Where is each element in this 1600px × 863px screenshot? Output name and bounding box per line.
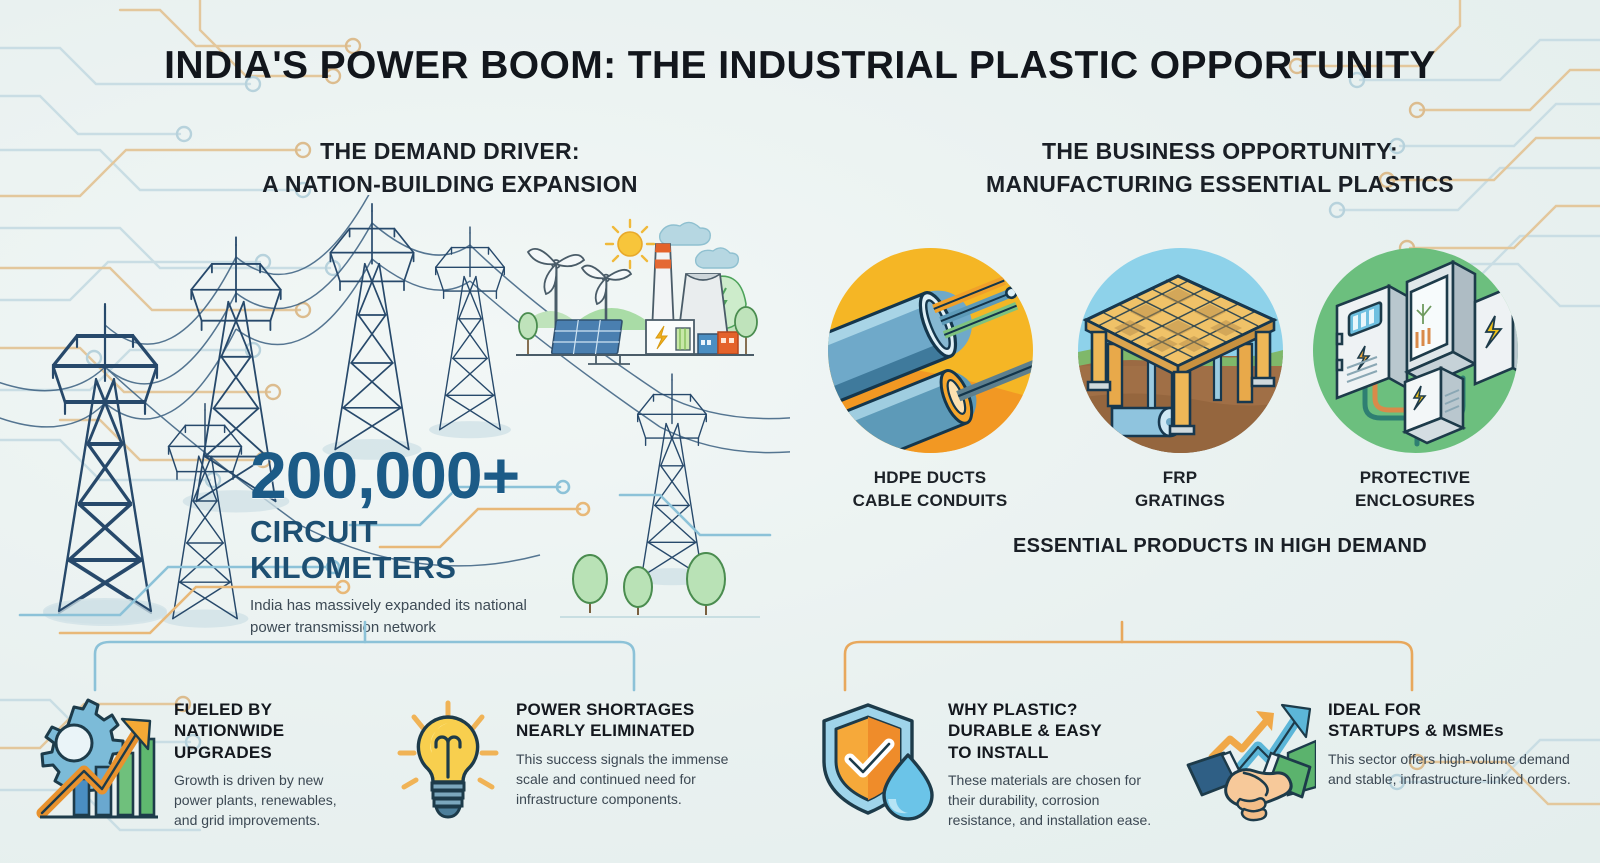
section-header-business-opportunity: THE BUSINESS OPPORTUNITY: MANUFACTURING … xyxy=(860,135,1580,200)
card-description: Growth is driven by new power plants, re… xyxy=(174,770,360,830)
card-title-line: TO INSTALL xyxy=(948,742,1168,763)
hdpe-duct-icon xyxy=(828,248,1033,453)
card-title-line: NATIONWIDE xyxy=(174,720,360,741)
card-title-line: STARTUPS & MSMEs xyxy=(1328,720,1582,741)
card-description: This success signals the immense scale a… xyxy=(516,749,742,809)
page-title: INDIA'S POWER BOOM: THE INDUSTRIAL PLAST… xyxy=(0,44,1600,88)
frp-grating-icon xyxy=(1078,248,1283,453)
product-card-protective-enclosures[interactable]: PROTECTIVE ENCLOSURES xyxy=(1310,248,1520,513)
gear-growth-chart-icon xyxy=(30,695,162,832)
infographic-root: INDIA'S POWER BOOM: THE INDUSTRIAL PLAST… xyxy=(0,0,1600,863)
card-description: These materials are chosen for their dur… xyxy=(948,770,1168,830)
products-subtitle: ESSENTIAL PRODUCTS IN HIGH DEMAND xyxy=(860,535,1580,558)
card-title: POWER SHORTAGES NEARLY ELIMINATED xyxy=(516,699,742,742)
handshake-growth-icon xyxy=(1182,695,1316,832)
product-label: PROTECTIVE ENCLOSURES xyxy=(1310,467,1520,513)
section-header-demand-driver: THE DEMAND DRIVER: A NATION-BUILDING EXP… xyxy=(130,135,770,200)
card-title-line: IDEAL FOR xyxy=(1328,699,1582,720)
card-description: This sector offers high-volume demand an… xyxy=(1328,749,1582,789)
lightbulb-icon xyxy=(392,695,504,832)
product-label-line1: HDPE DUCTS xyxy=(825,467,1035,490)
statistic-unit: CIRCUIT KILOMETERS xyxy=(250,514,580,586)
info-card-fueled-by-upgrades[interactable]: FUELED BY NATIONWIDE UPGRADES Growth is … xyxy=(30,695,360,832)
card-title-line: WHY PLASTIC? xyxy=(948,699,1168,720)
card-title: WHY PLASTIC? DURABLE & EASY TO INSTALL xyxy=(948,699,1168,763)
card-title-line: DURABLE & EASY xyxy=(948,720,1168,741)
trees-decoration xyxy=(560,535,760,625)
key-statistic: 200,000+ CIRCUIT KILOMETERS India has ma… xyxy=(250,442,580,639)
info-card-why-plastic[interactable]: WHY PLASTIC? DURABLE & EASY TO INSTALL T… xyxy=(818,695,1168,832)
enclosure-icon xyxy=(1313,248,1518,453)
section-header-line2: MANUFACTURING ESSENTIAL PLASTICS xyxy=(860,168,1580,201)
product-label-line1: PROTECTIVE xyxy=(1310,467,1520,490)
product-card-frp-gratings[interactable]: FRP GRATINGS xyxy=(1075,248,1285,513)
statistic-number: 200,000+ xyxy=(250,442,580,508)
section-header-line1: THE BUSINESS OPPORTUNITY: xyxy=(860,135,1580,168)
product-label-line2: CABLE CONDUITS xyxy=(825,490,1035,513)
card-title-line: FUELED BY xyxy=(174,699,360,720)
product-label: FRP GRATINGS xyxy=(1075,467,1285,513)
renewable-energy-plant-illustration xyxy=(510,208,760,373)
info-card-startups-msmes[interactable]: IDEAL FOR STARTUPS & MSMEs This sector o… xyxy=(1182,695,1582,832)
card-title-line: UPGRADES xyxy=(174,742,360,763)
product-label-line1: FRP xyxy=(1075,467,1285,490)
card-title-line: POWER SHORTAGES xyxy=(516,699,742,720)
shield-droplet-icon xyxy=(818,695,936,832)
card-title: IDEAL FOR STARTUPS & MSMEs xyxy=(1328,699,1582,742)
card-title: FUELED BY NATIONWIDE UPGRADES xyxy=(174,699,360,763)
product-label-line2: GRATINGS xyxy=(1075,490,1285,513)
product-label-line2: ENCLOSURES xyxy=(1310,490,1520,513)
info-card-power-shortages[interactable]: POWER SHORTAGES NEARLY ELIMINATED This s… xyxy=(392,695,742,832)
section-header-line1: THE DEMAND DRIVER: xyxy=(130,135,770,168)
card-title-line: NEARLY ELIMINATED xyxy=(516,720,742,741)
product-card-hdpe-ducts[interactable]: HDPE DUCTS CABLE CONDUITS xyxy=(825,248,1035,513)
product-label: HDPE DUCTS CABLE CONDUITS xyxy=(825,467,1035,513)
